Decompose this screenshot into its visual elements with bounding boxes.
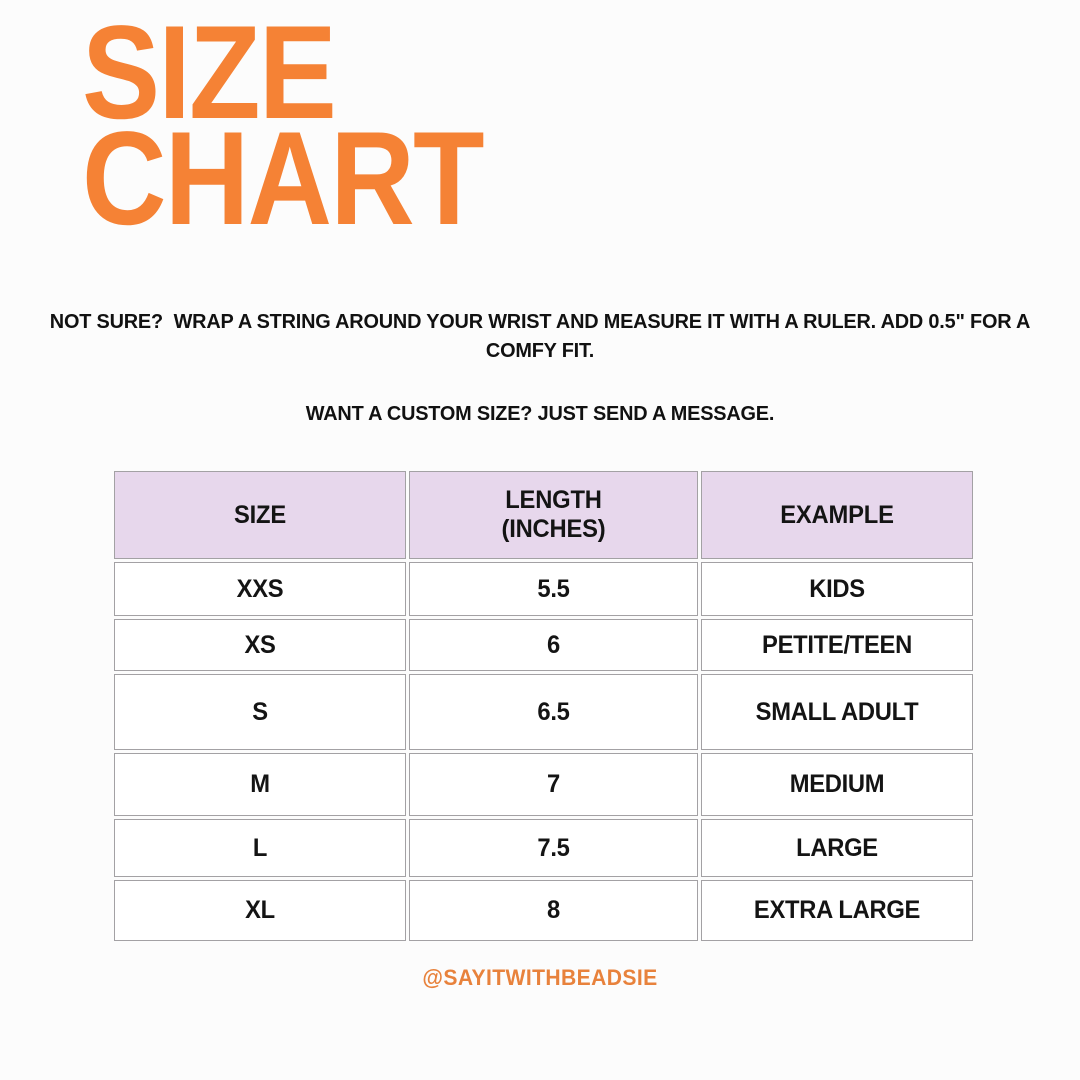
cell-length: 6 [409,619,698,671]
intro-block: NOT SURE? WRAP A STRING AROUND YOUR WRIS… [0,307,1080,428]
page-title: SIZE CHART [82,18,782,235]
column-header-size: SIZE [114,471,406,559]
cell-example: LARGE [701,819,973,877]
length-value: 7.5 [421,834,686,863]
column-header-example: EXAMPLE [701,471,973,559]
example-value: KIDS [713,575,962,604]
cell-size: S [114,674,406,750]
custom-size-note: WANT A CUSTOM SIZE? JUST SEND A MESSAGE. [16,399,1064,428]
cell-size: L [114,819,406,877]
column-header-length: LENGTH (INCHES) [409,471,698,559]
example-value: MEDIUM [713,770,962,799]
size-chart-table: SIZE LENGTH (INCHES) EXAMPLE XXS 5.5 KID… [111,468,976,944]
example-value: LARGE [713,834,962,863]
column-header-size-label: SIZE [126,501,394,530]
table-row: M 7 MEDIUM [114,753,973,816]
cell-example: KIDS [701,562,973,616]
title-line-chart: CHART [82,124,698,236]
cell-length: 5.5 [409,562,698,616]
example-value: PETITE/TEEN [713,631,962,660]
length-value: 5.5 [421,575,686,604]
size-value: XXS [126,575,394,604]
measuring-instructions: NOT SURE? WRAP A STRING AROUND YOUR WRIS… [16,307,1064,365]
table-header-row: SIZE LENGTH (INCHES) EXAMPLE [114,471,973,559]
cell-length: 8 [409,880,698,941]
size-value: S [126,698,394,727]
cell-example: PETITE/TEEN [701,619,973,671]
cell-size: XL [114,880,406,941]
cell-example: EXTRA LARGE [701,880,973,941]
cell-length: 7.5 [409,819,698,877]
length-value: 6.5 [421,698,686,727]
cell-size: XXS [114,562,406,616]
table-row: XXS 5.5 KIDS [114,562,973,616]
cell-size: M [114,753,406,816]
size-value: XL [126,896,394,925]
size-value: XS [126,631,394,660]
column-header-length-label: LENGTH (INCHES) [421,486,686,544]
cell-length: 7 [409,753,698,816]
example-value: EXTRA LARGE [713,896,962,925]
table-row: S 6.5 SMALL ADULT [114,674,973,750]
size-value: M [126,770,394,799]
length-value: 6 [421,631,686,660]
cell-example: SMALL ADULT [701,674,973,750]
column-header-example-label: EXAMPLE [713,501,962,530]
cell-size: XS [114,619,406,671]
cell-length: 6.5 [409,674,698,750]
length-value: 7 [421,770,686,799]
length-value: 8 [421,896,686,925]
size-value: L [126,834,394,863]
cell-example: MEDIUM [701,753,973,816]
table-row: XL 8 EXTRA LARGE [114,880,973,941]
example-value: SMALL ADULT [713,698,962,727]
social-handle: @SAYITWITHBEADSIE [22,965,1059,991]
table-row: XS 6 PETITE/TEEN [114,619,973,671]
table-row: L 7.5 LARGE [114,819,973,877]
